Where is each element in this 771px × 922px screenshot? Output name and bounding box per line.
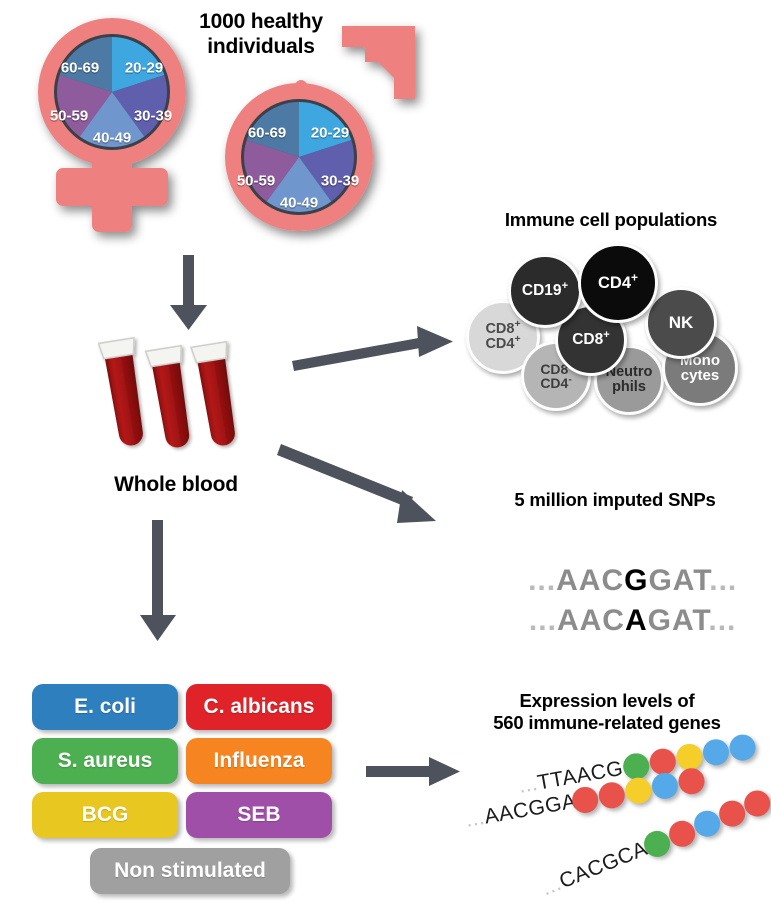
snp-sequence-row-2: ...AACAGAT... (489, 570, 739, 672)
stimulus-bcg[interactable]: BCG (32, 792, 178, 838)
cell-label-cd8neg-cd4neg-2: CD4- (540, 376, 571, 390)
cell-label-monocytes-2: cytes (680, 368, 720, 383)
cell-label-nk: NK (669, 314, 694, 331)
snps-title: 5 million imputed SNPs (460, 489, 770, 511)
blood-tubes (98, 330, 263, 460)
bead (650, 771, 680, 801)
male-symbol: 20-29 30-39 40-49 50-59 60-69 (205, 20, 425, 250)
stimulus-label-s-aureus: S. aureus (58, 749, 153, 773)
stimulus-label-non-stimulated: Non stimulated (114, 859, 266, 883)
stimulus-non-stimulated[interactable]: Non stimulated (90, 848, 290, 894)
cell-label-cd4pos: CD4+ (598, 275, 638, 292)
cell-label-cd8pos: CD8+ (572, 332, 610, 348)
arrow-stimuli-to-expression (366, 757, 460, 786)
expression-title-line2: 560 immune-related genes (448, 712, 766, 734)
cell-label-neutrophils-2: phils (606, 380, 653, 395)
cell-cd19pos: CD19+ (508, 254, 582, 328)
immune-title: Immune cell populations (452, 209, 770, 231)
female-symbol: 20-29 30-39 40-49 50-59 60-69 (8, 12, 218, 242)
bead (676, 766, 706, 796)
snp-suffix-2: ... (708, 604, 736, 637)
bead (727, 733, 757, 763)
stimulus-label-seb: SEB (237, 803, 280, 827)
stimulus-label-bcg: BCG (82, 803, 129, 827)
stimulus-e-coli[interactable]: E. coli (32, 684, 178, 730)
arrow-blood-to-snps (277, 444, 436, 523)
cell-label-cd19pos: CD19+ (522, 283, 568, 299)
expression-title: Expression levels of 560 immune-related … (448, 690, 766, 734)
stimulus-label-influenza: Influenza (213, 749, 304, 773)
stimulus-s-aureus[interactable]: S. aureus (32, 738, 178, 784)
snp-prefix-2: ... (529, 604, 557, 637)
stimulus-label-c-albicans: C. albicans (204, 695, 315, 719)
stimulus-c-albicans[interactable]: C. albicans (186, 684, 332, 730)
snp-right-2: GAT (648, 604, 709, 637)
arrow-blood-to-immune (292, 326, 453, 371)
stimulus-label-e-coli: E. coli (74, 695, 136, 719)
snp-variant-2: A (625, 604, 648, 637)
arrow-cohort-to-blood (170, 255, 207, 330)
cell-label-cd8pos-cd4pos-2: CD4+ (485, 337, 520, 352)
whole-blood-label: Whole blood (78, 473, 274, 498)
expression-title-line1: Expression levels of (448, 690, 766, 712)
bead (623, 776, 653, 806)
cell-nk: NK (645, 287, 717, 359)
snp-left-2: AAC (557, 604, 625, 637)
stimulus-influenza[interactable]: Influenza (186, 738, 332, 784)
strand-2-text: ...AACGGAT (464, 788, 590, 833)
bead (597, 780, 627, 810)
cell-cd4pos: CD4+ (578, 243, 658, 323)
arrow-blood-to-stimuli (140, 520, 176, 641)
stimulus-seb[interactable]: SEB (186, 792, 332, 838)
figure-canvas: 1000 healthy individuals (0, 0, 771, 922)
